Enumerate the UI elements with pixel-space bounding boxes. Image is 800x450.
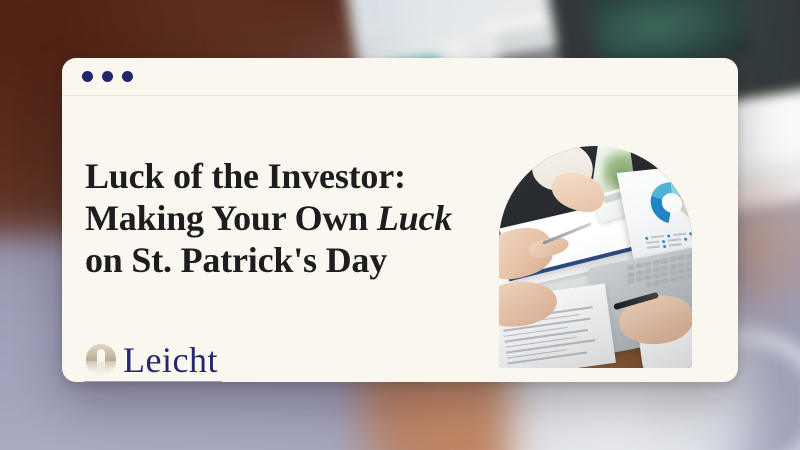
window-dot-3-icon[interactable] [122,71,133,82]
window-dot-1-icon[interactable] [82,71,93,82]
window-dot-2-icon[interactable] [102,71,113,82]
headline-line-2-before: Making Your Own [85,198,377,238]
headline-line-1: Luck of the Investor: [85,156,406,196]
logo-divider [84,381,222,382]
browser-card: Luck of the Investor:Making Your Own Luc… [62,58,738,382]
logo-wordmark: Leicht [123,342,218,378]
headline-line-3: on St. Patrick's Day [85,240,387,280]
brand-logo[interactable]: Leicht Financial Planning & Wealth Manag… [84,342,244,382]
page-title: Luck of the Investor:Making Your Own Luc… [85,156,505,281]
browser-titlebar [62,58,738,96]
card-body: Luck of the Investor:Making Your Own Luc… [62,96,738,382]
headline-italic-word: Luck [377,198,452,238]
hero-photo [499,146,692,368]
logo-row: Leicht [84,342,244,378]
arch-logo-mark-icon [84,343,118,377]
